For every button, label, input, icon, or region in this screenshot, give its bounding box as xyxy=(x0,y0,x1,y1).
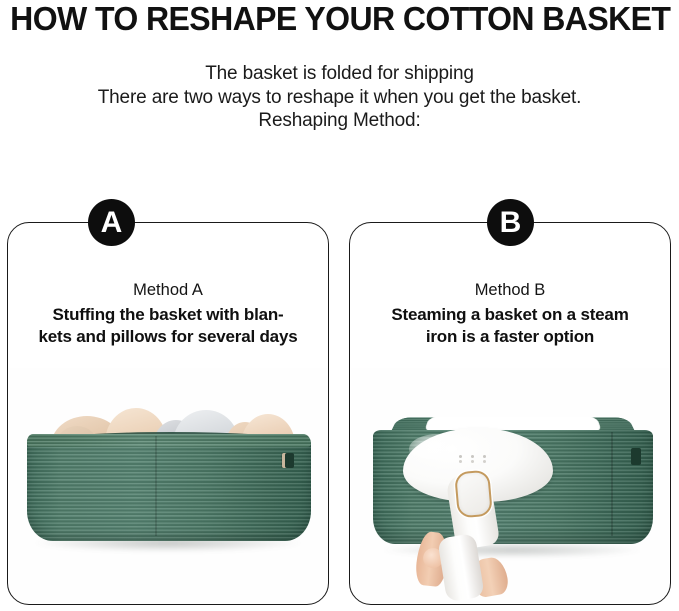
badge-a: A xyxy=(88,199,135,246)
steamer-vent-dot xyxy=(483,455,486,458)
basket-side-handle xyxy=(285,453,294,468)
method-a-description-line-1: Stuffing the basket with blan- xyxy=(14,304,322,326)
subtitle-line-1: The basket is folded for shipping xyxy=(0,62,679,86)
method-a-label: Method A xyxy=(14,280,322,301)
method-b-label: Method B xyxy=(356,280,664,301)
basket-corner-fold xyxy=(155,436,157,536)
method-a-description-line-2: kets and pillows for several days xyxy=(14,326,322,348)
method-b-description: Steaming a basket on a steam iron is a f… xyxy=(356,304,664,348)
basket-corner-fold xyxy=(611,432,613,536)
method-b-photo-canvas xyxy=(351,368,669,603)
method-a-heading: Method A Stuffing the basket with blan- … xyxy=(14,280,322,348)
method-a-description: Stuffing the basket with blan- kets and … xyxy=(14,304,322,348)
basket-filled-illustration xyxy=(27,406,311,554)
subtitle-line-3: Reshaping Method: xyxy=(0,109,679,133)
steamer-vent-dot xyxy=(471,455,474,458)
method-card-a: A Method A Stuffing the basket with blan… xyxy=(7,222,329,605)
subtitle-block: The basket is folded for shipping There … xyxy=(0,62,679,133)
method-card-b: B Method B Steaming a basket on a steam … xyxy=(349,222,671,605)
method-b-description-line-2: iron is a faster option xyxy=(356,326,664,348)
method-b-heading: Method B Steaming a basket on a steam ir… xyxy=(356,280,664,348)
steamer-vent-dot xyxy=(459,455,462,458)
subtitle-line-2: There are two ways to reshape it when yo… xyxy=(0,86,679,110)
basket-body xyxy=(27,436,311,541)
method-a-photo-canvas xyxy=(9,368,327,603)
method-b-description-line-1: Steaming a basket on a steam xyxy=(356,304,664,326)
page-title: HOW TO RESHAPE YOUR COTTON BASKET xyxy=(10,0,669,38)
basket-side-handle xyxy=(631,448,641,465)
handheld-steamer-illustration xyxy=(403,428,563,600)
badge-b: B xyxy=(487,199,534,246)
basket-front-rim xyxy=(27,434,311,447)
method-b-photo xyxy=(351,368,669,603)
steamer-vent-holes xyxy=(459,455,493,463)
steamer-power-button xyxy=(454,470,493,519)
method-cards-container: A Method A Stuffing the basket with blan… xyxy=(0,190,679,611)
method-a-photo xyxy=(9,368,327,603)
